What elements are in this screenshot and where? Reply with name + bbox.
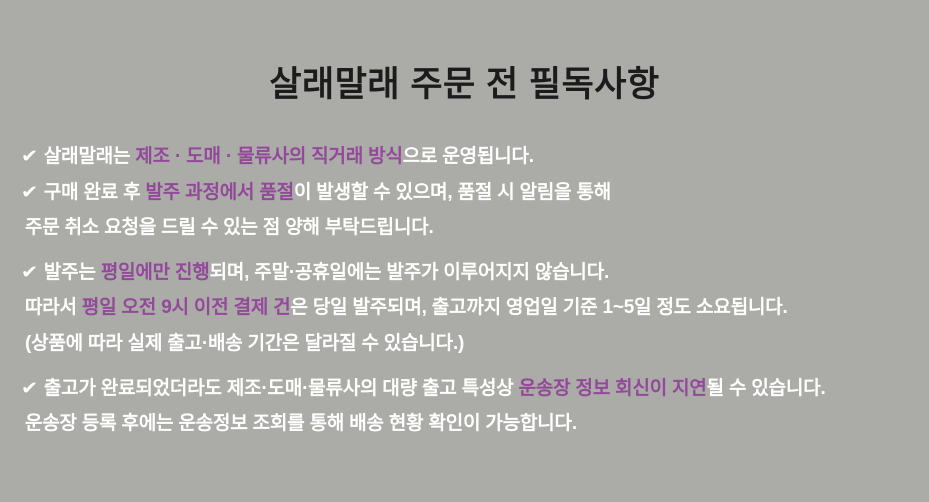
check-icon: ✔ [21,138,38,174]
text-segment: 발주는 [44,262,101,283]
notice-line-6: (상품에 따라 실제 출고·배송 기간은 달라질 수 있습니다.) [22,326,922,362]
text-segment: (상품에 따라 실제 출고·배송 기간은 달라질 수 있습니다.) [25,333,464,354]
notice-line-3: 주문 취소 요청을 드릴 수 있는 점 양해 부탁드립니다. [22,210,922,246]
highlighted-text-segment: 제조 · 도매 · 물류사의 직거래 방식 [135,146,402,167]
text-segment: 살래말래는 [44,146,135,167]
notice-line-1: ✔살래말래는 제조 · 도매 · 물류사의 직거래 방식으로 운영됩니다. [22,138,922,174]
check-icon: ✔ [21,254,38,290]
text-segment: 출고가 완료되었더라도 제조·도매·물류사의 대량 출고 특성상 [44,378,519,399]
notice-line-4: ✔발주는 평일에만 진행되며, 주말·공휴일에는 발주가 이루어지지 않습니다. [22,254,922,290]
text-segment: 은 당일 발주되며, 출고까지 영업일 기준 1~5일 정도 소요됩니다. [290,297,787,318]
text-segment: 될 수 있습니다. [707,378,826,399]
highlighted-text-segment: 운송장 정보 회신이 지연 [519,378,707,399]
text-segment: 주문 취소 요청을 드릴 수 있는 점 양해 부탁드립니다. [25,217,434,238]
text-segment: 이 발생할 수 있으며, 품절 시 알림을 통해 [294,182,611,203]
check-icon: ✔ [21,370,38,406]
notice-line-5: 따라서 평일 오전 9시 이전 결제 건은 당일 발주되며, 출고까지 영업일 … [22,290,922,326]
highlighted-text-segment: 평일 오전 9시 이전 결제 건 [82,297,291,318]
text-segment: 운송장 등록 후에는 운송정보 조회를 통해 배송 현황 확인이 가능합니다. [25,413,577,434]
text-segment: 따라서 [25,297,82,318]
check-icon: ✔ [21,174,38,210]
notice-body: ✔살래말래는 제조 · 도매 · 물류사의 직거래 방식으로 운영됩니다.✔구매… [22,138,922,442]
text-segment: 되며, 주말·공휴일에는 발주가 이루어지지 않습니다. [210,262,609,283]
notice-line-7: ✔출고가 완료되었더라도 제조·도매·물류사의 대량 출고 특성상 운송장 정보… [22,370,922,406]
notice-card: 살래말래 주문 전 필독사항 ✔살래말래는 제조 · 도매 · 물류사의 직거래… [0,0,929,502]
notice-line-2: ✔구매 완료 후 발주 과정에서 품절이 발생할 수 있으며, 품절 시 알림을… [22,174,922,210]
highlighted-text-segment: 평일에만 진행 [101,262,210,283]
highlighted-text-segment: 발주 과정에서 품절 [146,182,294,203]
text-segment: 구매 완료 후 [44,182,146,203]
page-title: 살래말래 주문 전 필독사항 [0,56,929,107]
text-segment: 으로 운영됩니다. [403,146,534,167]
notice-line-8: 운송장 등록 후에는 운송정보 조회를 통해 배송 현황 확인이 가능합니다. [22,406,922,442]
